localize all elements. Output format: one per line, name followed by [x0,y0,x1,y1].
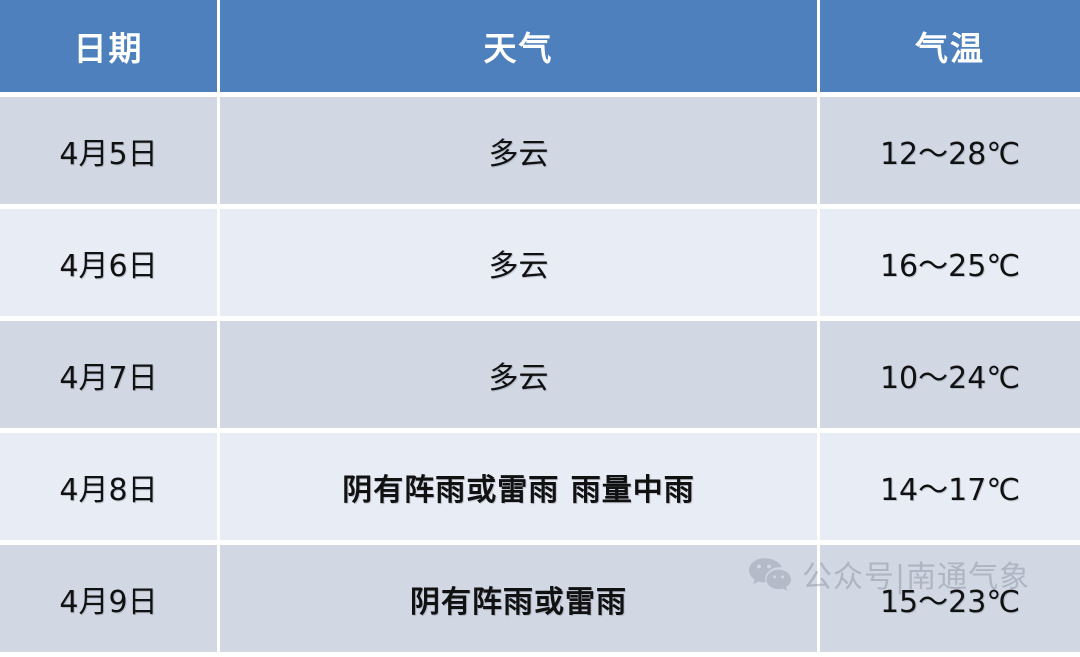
cell-temperature: 14～17℃ [820,433,1080,545]
table-row: 4月5日 多云 12～28℃ [0,97,1080,209]
cell-temperature: 15～23℃ [820,545,1080,657]
weather-forecast-table-container: 日期 天气 气温 4月5日 多云 12～28℃ 4月6日 多云 16～25℃ 4… [0,0,1080,631]
cell-temperature: 10～24℃ [820,321,1080,433]
table-row: 4月9日 阴有阵雨或雷雨 15～23℃ [0,545,1080,657]
table-row: 4月6日 多云 16～25℃ [0,209,1080,321]
cell-date: 4月9日 [0,545,220,657]
cell-weather: 多云 [220,321,820,433]
cell-date: 4月7日 [0,321,220,433]
cell-temperature: 12～28℃ [820,97,1080,209]
cell-weather: 阴有阵雨或雷雨 [220,545,820,657]
cell-date: 4月8日 [0,433,220,545]
weather-forecast-table: 日期 天气 气温 4月5日 多云 12～28℃ 4月6日 多云 16～25℃ 4… [0,0,1080,657]
cell-weather: 阴有阵雨或雷雨 雨量中雨 [220,433,820,545]
table-header-row: 日期 天气 气温 [0,0,1080,97]
cell-temperature: 16～25℃ [820,209,1080,321]
column-header-temperature: 气温 [820,0,1080,97]
cell-date: 4月6日 [0,209,220,321]
table-row: 4月8日 阴有阵雨或雷雨 雨量中雨 14～17℃ [0,433,1080,545]
column-header-date: 日期 [0,0,220,97]
table-row: 4月7日 多云 10～24℃ [0,321,1080,433]
column-header-weather: 天气 [220,0,820,97]
cell-date: 4月5日 [0,97,220,209]
cell-weather: 多云 [220,97,820,209]
cell-weather: 多云 [220,209,820,321]
